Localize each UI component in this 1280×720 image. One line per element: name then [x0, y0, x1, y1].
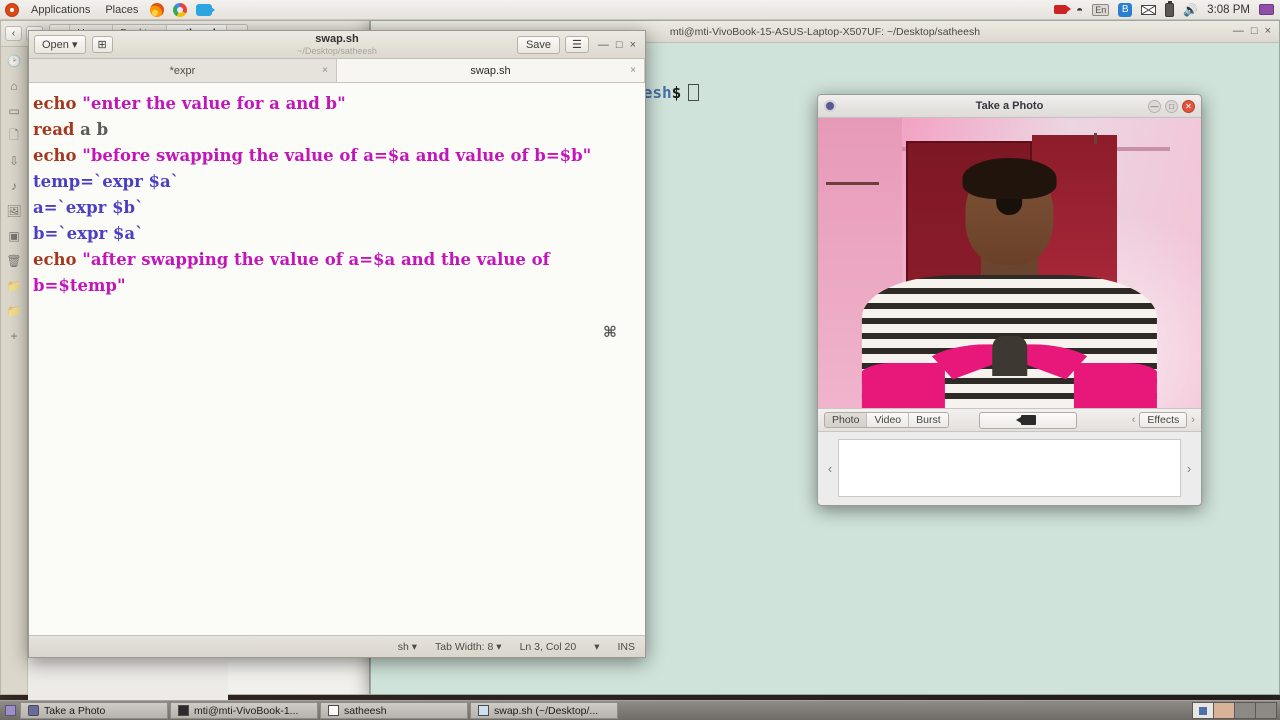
- code-token: read: [33, 120, 80, 139]
- workspace-window-preview: [1199, 707, 1207, 715]
- ubuntu-logo-icon[interactable]: [5, 3, 19, 17]
- person-subject: [868, 153, 1151, 408]
- cursor-position: Ln 3, Col 20: [520, 641, 577, 653]
- save-button[interactable]: Save: [517, 36, 560, 54]
- effects-controls: ‹ Effects ›: [1132, 412, 1195, 428]
- new-tab-icon[interactable]: ⊞: [92, 36, 113, 53]
- minimize-button[interactable]: —: [1148, 100, 1161, 113]
- code-token: b=`expr $a`: [33, 224, 143, 243]
- terminal-title: mti@mti-VivoBook-15-ASUS-Laptop-X507UF: …: [670, 26, 980, 38]
- tab-swap-sh[interactable]: swap.sh ×: [337, 59, 645, 82]
- code-token: echo: [33, 94, 82, 113]
- taskbar-item-label: mti@mti-VivoBook-1...: [194, 705, 298, 717]
- hamburger-menu-icon[interactable]: ☰: [565, 36, 589, 53]
- maximize-button[interactable]: □: [1165, 100, 1178, 113]
- taskbar-item-terminal[interactable]: mti@mti-VivoBook-1...: [170, 702, 318, 719]
- volume-icon[interactable]: 🔊: [1183, 3, 1198, 17]
- taskbar: Take a Photo mti@mti-VivoBook-1... sathe…: [0, 700, 1280, 720]
- camera-titlebar[interactable]: Take a Photo — □ ✕: [818, 95, 1201, 118]
- code-line: b=$temp": [31, 273, 645, 299]
- top-panel-left: Applications Places: [0, 3, 212, 17]
- camera-icon[interactable]: [196, 4, 212, 16]
- mode-burst-button[interactable]: Burst: [909, 413, 948, 427]
- mail-icon[interactable]: [1141, 5, 1156, 15]
- editor-statusbar: sh ▾ Tab Width: 8 ▾ Ln 3, Col 20 ▾ INS: [29, 635, 645, 657]
- tab-label: swap.sh: [470, 65, 510, 77]
- code-token: "before swapping the value of a=$a and v…: [82, 146, 591, 165]
- editor-text-area[interactable]: echo "enter the value for a and b"read a…: [29, 83, 645, 635]
- show-desktop-button[interactable]: [0, 705, 20, 716]
- firefox-icon[interactable]: [150, 3, 164, 17]
- code-token: "after swapping the value of a=$a and th…: [82, 250, 549, 269]
- mode-photo-button[interactable]: Photo: [825, 413, 867, 427]
- close-button[interactable]: ✕: [1182, 100, 1195, 113]
- camera-window-controls: — □ ✕: [1148, 100, 1195, 113]
- chrome-icon[interactable]: [173, 3, 187, 17]
- display-icon[interactable]: [1259, 4, 1274, 15]
- folder-icon[interactable]: 📁: [7, 279, 22, 293]
- close-button[interactable]: ×: [1265, 25, 1271, 37]
- screen-root: Applications Places ◓ En B 🔊 3:08 PM ‹ ›…: [0, 0, 1280, 720]
- file-manager-sidebar: 🕑 ⌂ ▭ 🗋 ⇩ ♪ 🖼 ▣ 🗑 📁 📁 +: [1, 47, 28, 694]
- taskbar-item-cheese[interactable]: Take a Photo: [20, 702, 168, 719]
- camera-toolbar: Photo Video Burst ‹ Effects ›: [818, 408, 1201, 432]
- close-icon[interactable]: ×: [322, 65, 328, 76]
- capture-button[interactable]: [979, 412, 1077, 429]
- recent-icon[interactable]: 🕑: [7, 54, 22, 68]
- desktop-icon[interactable]: ▭: [7, 104, 22, 118]
- trash-icon[interactable]: 🗑: [7, 254, 22, 268]
- code-line: read a b: [31, 117, 645, 143]
- editor-window-controls: — □ ×: [594, 39, 640, 51]
- editor-tabbar: *expr × swap.sh ×: [29, 59, 645, 83]
- close-button[interactable]: ×: [630, 39, 636, 51]
- home-icon[interactable]: ⌂: [7, 79, 22, 93]
- top-panel: Applications Places ◓ En B 🔊 3:08 PM: [0, 0, 1280, 20]
- folder-icon: [328, 705, 339, 716]
- camera-thumbnail-tray: ‹ ›: [818, 432, 1201, 504]
- record-icon[interactable]: [1054, 5, 1067, 14]
- taskbar-item-label: Take a Photo: [44, 705, 105, 717]
- person-shoulder-left: [862, 363, 945, 408]
- terminal-icon: [178, 705, 189, 716]
- music-icon[interactable]: ♪: [7, 179, 22, 193]
- other-locations-icon[interactable]: +: [7, 329, 22, 343]
- person-shirt: [862, 275, 1157, 408]
- taskbar-item-files[interactable]: satheesh: [320, 702, 468, 719]
- insert-mode-indicator: INS: [617, 641, 635, 653]
- code-token: echo: [33, 250, 82, 269]
- tab-label: *expr: [170, 65, 196, 77]
- system-tray: ◓ En B 🔊 3:08 PM: [1054, 3, 1280, 17]
- tray-prev-icon[interactable]: ‹: [822, 461, 838, 476]
- camera-preview: [818, 118, 1201, 408]
- terminal-cursor: [688, 84, 699, 101]
- battery-icon[interactable]: [1165, 3, 1174, 17]
- taskbar-item-gedit[interactable]: swap.sh (~/Desktop/...: [470, 702, 618, 719]
- code-token: b=$temp": [33, 276, 126, 295]
- pictures-icon[interactable]: 🖼: [7, 204, 22, 218]
- taskbar-item-label: satheesh: [344, 705, 387, 717]
- downloads-icon[interactable]: ⇩: [7, 154, 22, 168]
- maximize-button[interactable]: □: [1251, 25, 1258, 37]
- terminal-window-controls: — □ ×: [1229, 25, 1275, 37]
- person-shoulder-right: [1074, 363, 1157, 408]
- nav-back-button[interactable]: ‹: [5, 26, 22, 41]
- tray-strip[interactable]: [838, 439, 1181, 497]
- editor-header-actions: Save ☰ — □ ×: [517, 36, 640, 54]
- code-line: echo "after swapping the value of a=$a a…: [31, 247, 645, 273]
- show-desktop-icon: [5, 705, 16, 716]
- cheese-icon: [28, 705, 39, 716]
- person-hair: [963, 158, 1057, 199]
- documents-icon[interactable]: 🗋: [7, 129, 22, 143]
- workspace-4[interactable]: [1255, 702, 1277, 719]
- text-editor-window[interactable]: Open ▾ ⊞ swap.sh ~/Desktop/satheesh Save…: [28, 30, 646, 658]
- code-line: a=`expr $b`: [31, 195, 645, 221]
- code-token: temp=`expr $a`: [33, 172, 179, 191]
- language-selector[interactable]: sh ▾: [398, 641, 417, 653]
- taskbar-item-label: swap.sh (~/Desktop/...: [494, 705, 598, 717]
- editor-header: Open ▾ ⊞ swap.sh ~/Desktop/satheesh Save…: [29, 31, 645, 59]
- workspace-switcher: [1193, 702, 1277, 719]
- code-line: temp=`expr $a`: [31, 169, 645, 195]
- videos-icon[interactable]: ▣: [7, 229, 22, 243]
- bluetooth-icon[interactable]: B: [1118, 3, 1132, 17]
- code-token: echo: [33, 146, 82, 165]
- code-token: "enter the value for a and b": [82, 94, 345, 113]
- camera-window[interactable]: Take a Photo — □ ✕: [817, 94, 1202, 506]
- capture-icon: [1021, 415, 1036, 425]
- prompt-symbol: $: [672, 83, 682, 102]
- minimize-button[interactable]: —: [1233, 25, 1244, 37]
- code-line: b=`expr $a`: [31, 221, 645, 247]
- i-beam-cursor: ⌘: [603, 319, 617, 345]
- code-line: echo "enter the value for a and b": [31, 91, 645, 117]
- wifi-icon[interactable]: ◓: [1076, 3, 1083, 17]
- minimize-button[interactable]: —: [598, 39, 609, 51]
- keyboard-layout-indicator[interactable]: En: [1092, 4, 1109, 16]
- maximize-button[interactable]: □: [616, 39, 623, 51]
- mode-video-button[interactable]: Video: [867, 413, 909, 427]
- tab-expr[interactable]: *expr ×: [29, 59, 337, 82]
- person-placket: [992, 336, 1027, 376]
- position-dropdown-icon[interactable]: ▾: [594, 641, 599, 653]
- gedit-icon: [478, 705, 489, 716]
- file-manager-selection-area[interactable]: [28, 661, 228, 701]
- camera-title: Take a Photo: [818, 100, 1201, 112]
- workspace-3[interactable]: [1234, 702, 1256, 719]
- clock[interactable]: 3:08 PM: [1207, 4, 1250, 16]
- applications-menu[interactable]: Applications: [28, 4, 93, 16]
- tab-width-selector[interactable]: Tab Width: 8 ▾: [435, 641, 502, 653]
- code-line: echo "before swapping the value of a=$a …: [31, 143, 645, 169]
- workspace-2[interactable]: [1213, 702, 1235, 719]
- close-icon[interactable]: ×: [630, 65, 636, 76]
- capture-mode-selector: Photo Video Burst: [824, 412, 949, 428]
- scene-hook: [1094, 133, 1097, 144]
- places-menu[interactable]: Places: [102, 4, 141, 16]
- effects-button[interactable]: Effects: [1139, 412, 1187, 428]
- effects-prev-icon[interactable]: ‹: [1132, 414, 1136, 426]
- tray-next-icon[interactable]: ›: [1181, 461, 1197, 476]
- code-token: a b: [80, 120, 108, 139]
- open-button[interactable]: Open ▾: [34, 35, 86, 54]
- code-token: a=`expr $b`: [33, 198, 143, 217]
- workspace-1[interactable]: [1192, 702, 1214, 719]
- effects-next-icon[interactable]: ›: [1191, 414, 1195, 426]
- folder-icon[interactable]: 📁: [7, 304, 22, 318]
